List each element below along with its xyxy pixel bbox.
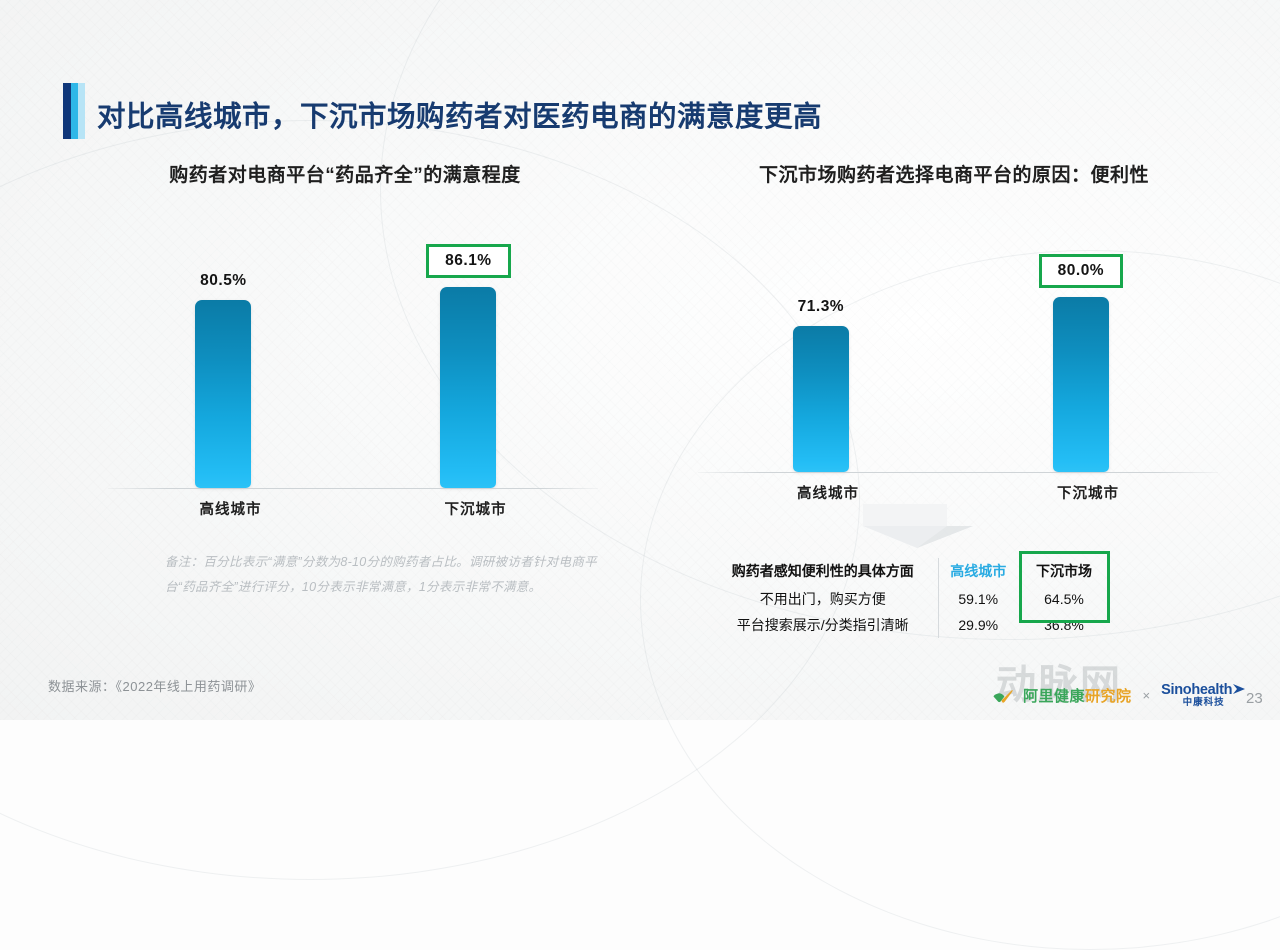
table-header-row: 购药者感知便利性的具体方面 高线城市 下沉市场	[708, 558, 1110, 586]
slide-header: 对比高线城市，下沉市场购药者对医药电商的满意度更高	[0, 38, 1280, 112]
right-bar-chart: 71.3% 80.0% 高线城市 下沉城市	[650, 237, 1240, 507]
left-bar-chart: 80.5% 86.1% 高线城市 下沉城市	[60, 223, 620, 523]
category-label-sinking: 下沉城市	[445, 498, 507, 519]
title-accent-bar	[63, 83, 85, 139]
table-cell-high-1: 59.1%	[938, 586, 1018, 612]
left-chart-panel: 购药者对电商平台“药品齐全”的满意程度 80.5% 86.1% 高线城市 下沉城…	[60, 160, 620, 660]
page-number: 23	[1246, 690, 1263, 707]
bar-sinking[interactable]	[440, 287, 496, 488]
alihealth-check-icon	[992, 688, 1014, 704]
table-cell-aspect-1: 不用出门，购买方便	[708, 586, 938, 612]
right-chart-panel: 下沉市场购药者选择电商平台的原因：便利性 71.3% 80.0% 高线城市 下沉…	[650, 160, 1240, 660]
bar-group-high-line: 80.5%	[195, 223, 251, 488]
down-arrow-icon	[855, 500, 980, 552]
sinohealth-logo: Sinohealth 中康科技	[1161, 683, 1246, 708]
data-source-note: 数据来源：《2022年线上用药调研》	[48, 676, 261, 695]
bar-value-high-line: 80.5%	[200, 272, 246, 290]
table-cell-aspect-2: 平台搜索展示/分类指引清晰	[708, 612, 938, 638]
left-chart-category-labels: 高线城市 下沉城市	[108, 493, 598, 523]
sinohealth-logo-cn: 中康科技	[1161, 698, 1246, 708]
category-label-high-line: 高线城市	[200, 498, 262, 519]
right-chart-title: 下沉市场购药者选择电商平台的原因：便利性	[668, 160, 1240, 187]
left-chart-bars: 80.5% 86.1%	[108, 223, 598, 488]
bar-high-line[interactable]	[195, 300, 251, 488]
alihealth-name-green: 阿里健康	[1023, 688, 1085, 705]
left-chart-footnote: 备注：百分比表示“满意”分数为8-10分的购药者占比。调研被访者针对电商平台“药…	[165, 550, 615, 600]
arrow-icon	[1233, 684, 1246, 695]
bar-high-line-reason[interactable]	[793, 326, 849, 472]
table-row: 不用出门，购买方便 59.1% 64.5%	[708, 586, 1110, 612]
alihealth-logo-text: 阿里健康研究院	[1023, 685, 1132, 706]
category-label-sinking-reason: 下沉城市	[1057, 482, 1119, 503]
left-chart-axis-line	[108, 488, 598, 489]
bar-value-high-line-reason: 71.3%	[798, 298, 844, 316]
table-cell-high-2: 29.9%	[938, 612, 1018, 638]
table-cell-sink-1: 64.5%	[1018, 586, 1110, 612]
bar-group-sinking-reason: 80.0%	[1039, 237, 1123, 472]
sinohealth-logo-en: Sinohealth	[1161, 683, 1246, 698]
logo-separator: ×	[1143, 688, 1151, 703]
page-title: 对比高线城市，下沉市场购药者对医药电商的满意度更高	[97, 94, 822, 135]
table-header-aspect: 购药者感知便利性的具体方面	[708, 558, 938, 586]
accent-stripe-light	[78, 83, 85, 139]
accent-stripe-mid	[71, 83, 78, 139]
bar-group-high-line-reason: 71.3%	[793, 237, 849, 472]
table-header-sinking: 下沉市场	[1018, 558, 1110, 586]
alihealth-name-orange: 研究院	[1085, 688, 1132, 705]
table-row: 平台搜索展示/分类指引清晰 29.9% 36.8%	[708, 612, 1110, 638]
accent-stripe-dark	[63, 83, 71, 139]
bar-group-sinking: 86.1%	[426, 223, 510, 488]
right-chart-bars: 71.3% 80.0%	[698, 237, 1218, 472]
category-label-high-line-reason: 高线城市	[797, 482, 859, 503]
left-chart-title: 购药者对电商平台“药品齐全”的满意程度	[70, 160, 620, 187]
table-header-high-line: 高线城市	[938, 558, 1018, 586]
footer-logo-bar: 阿里健康研究院 × Sinohealth 中康科技	[992, 683, 1246, 708]
table-cell-sink-2: 36.8%	[1018, 612, 1110, 638]
convenience-detail-table: 购药者感知便利性的具体方面 高线城市 下沉市场 不用出门，购买方便 59.1% …	[708, 558, 1110, 638]
bar-value-sinking-reason-highlighted: 80.0%	[1039, 254, 1123, 288]
bar-sinking-reason[interactable]	[1053, 297, 1109, 472]
bar-value-sinking-highlighted: 86.1%	[426, 244, 510, 278]
right-chart-axis-line	[698, 472, 1218, 473]
